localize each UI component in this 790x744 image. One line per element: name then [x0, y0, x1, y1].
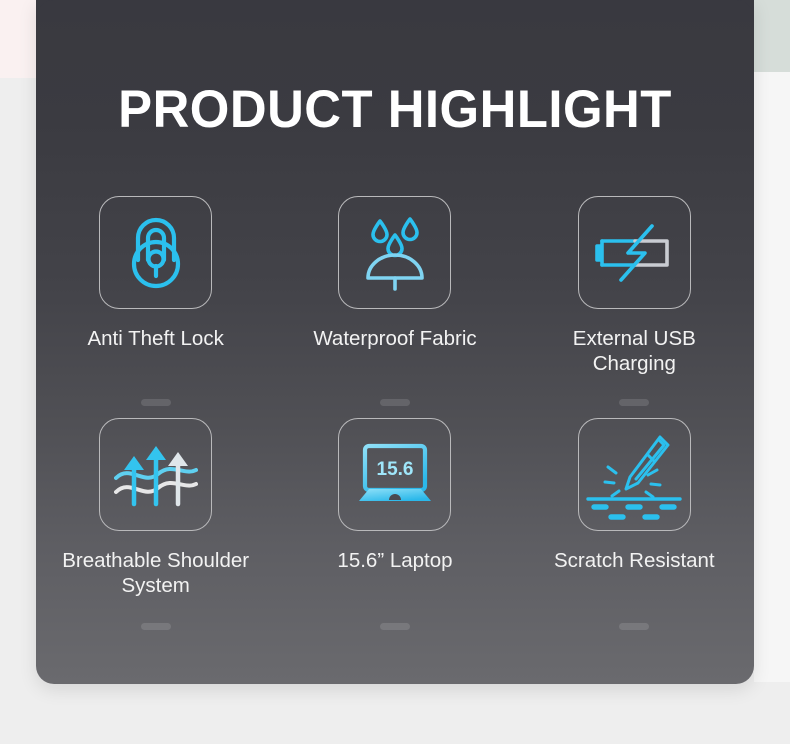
padlock-icon [122, 216, 190, 290]
battery-charge-icon [595, 220, 673, 286]
feature-external-usb-charging[interactable]: External USB Charging [515, 196, 754, 418]
feature-breathable-shoulder-system[interactable]: Breathable Shoulder System [36, 418, 275, 640]
laptop-icon: 15.6 [353, 443, 437, 507]
feature-divider-pill [380, 623, 410, 630]
background-patch-bottom-right [754, 72, 790, 682]
feature-icon-tile [578, 196, 691, 309]
laptop-screen-text: 15.6 [376, 459, 413, 480]
feature-anti-theft-lock[interactable]: Anti Theft Lock [36, 196, 275, 418]
feature-waterproof-fabric[interactable]: Waterproof Fabric [275, 196, 514, 418]
feature-label: Scratch Resistant [554, 548, 715, 573]
feature-divider-pill [380, 399, 410, 406]
umbrella-rain-icon [360, 215, 430, 291]
feature-icon-tile [578, 418, 691, 531]
page-title: PRODUCT HIGHLIGHT [50, 0, 739, 136]
feature-laptop-size[interactable]: 15.6 15.6” Laptop [275, 418, 514, 640]
feature-icon-tile [99, 196, 212, 309]
feature-label: 15.6” Laptop [337, 548, 452, 573]
feature-divider-pill [141, 623, 171, 630]
feature-label: Breathable Shoulder System [56, 548, 256, 598]
feature-icon-tile: 15.6 [338, 418, 451, 531]
product-highlight-card: PRODUCT HIGHLIGHT Anti Theft Lock [36, 0, 754, 684]
feature-label: Anti Theft Lock [87, 326, 223, 351]
feature-label: Waterproof Fabric [313, 326, 476, 351]
feature-scratch-resistant[interactable]: Scratch Resistant [515, 418, 754, 640]
airflow-arrows-icon [114, 442, 198, 508]
feature-divider-pill [619, 623, 649, 630]
knife-scratch-icon [586, 427, 682, 523]
background-patch-top-left [0, 0, 36, 78]
feature-divider-pill [141, 399, 171, 406]
feature-icon-tile [338, 196, 451, 309]
background-patch-top-right [754, 0, 790, 72]
feature-divider-pill [619, 399, 649, 406]
feature-grid: Anti Theft Lock Waterproof Fabric [36, 196, 754, 640]
feature-icon-tile [99, 418, 212, 531]
feature-label: External USB Charging [534, 326, 734, 376]
